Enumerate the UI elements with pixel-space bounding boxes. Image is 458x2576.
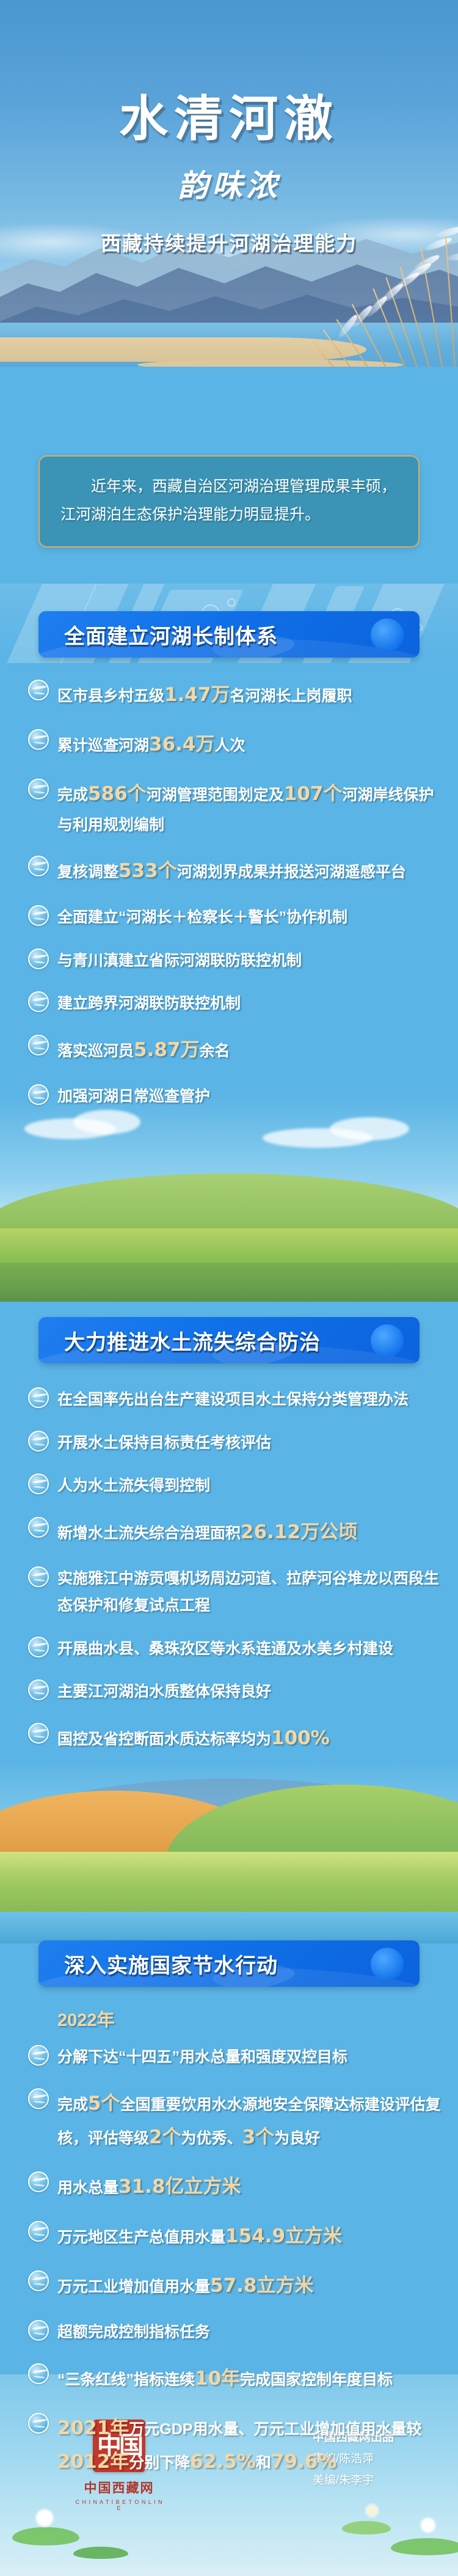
hero-title-group: 水清河澈 韵味浓 西藏持续提升河湖治理能力: [0, 0, 458, 257]
list-item-text: 累计巡查河湖36.4万人次: [57, 728, 245, 761]
highlight-number: 586个: [88, 783, 147, 805]
list-item-text: 新增水土流失综合治理面积26.12万公顷: [57, 1516, 357, 1549]
bullet-list-1: 区市县乡村五级1.47万名河湖长上岗履职累计巡查河湖36.4万人次完成586个河…: [28, 678, 443, 1126]
water-globe-icon: [28, 1387, 49, 1408]
list-item-text-run: 实施雅江中游贡嘎机场周边河道、拉萨河谷堆龙以西段生态保护和修复试点工程: [57, 1570, 439, 1615]
list-item-text: 复核调整533个河湖划界成果并报送河湖遥感平台: [57, 854, 406, 888]
section-header-3: 深入实施国家节水行动: [38, 1940, 420, 1987]
water-globe-icon: [28, 949, 49, 969]
flower-icon: [421, 2519, 435, 2532]
list-item: 完成586个河湖管理范围划定及107个河湖岸线保护与利用规划编制: [28, 777, 443, 838]
list-item-text: 超额完成控制指标任务: [57, 2319, 210, 2346]
scene-water: [0, 1912, 458, 1943]
list-item-text: 落实巡河员5.87万余名: [57, 1033, 230, 1067]
list-item: 主要江河湖泊水质整体保持良好: [28, 1678, 443, 1706]
list-item: 分解下达“十四五”用水总量和强度双控目标: [28, 2044, 443, 2071]
list-item-text-run: “三条红线”指标连续: [57, 2371, 195, 2388]
highlight-number: 79.6%: [271, 2451, 337, 2473]
section-title: 大力推进水土流失综合防治: [64, 1326, 321, 1356]
page-subtitle: 韵味浓: [0, 161, 458, 205]
highlight-number: 2个: [149, 2126, 181, 2148]
list-item: 复核调整533个河湖划界成果并报送河湖遥感平台: [28, 854, 443, 888]
list-item: 新增水土流失综合治理面积26.12万公顷: [28, 1516, 443, 1549]
highlight-number: 31.8亿立方米: [118, 2176, 241, 2198]
header-glow-circle: [371, 1324, 404, 1357]
list-item: 用水总量31.8亿立方米: [28, 2170, 443, 2204]
list-item-text-run: 余名: [200, 1043, 230, 1060]
water-globe-icon: [28, 2270, 49, 2291]
highlight-number: 10年: [195, 2368, 240, 2390]
water-globe-icon: [28, 1566, 49, 1587]
water-globe-icon: [28, 779, 49, 799]
list-item-text: “三条红线”指标连续10年完成国家控制年度目标: [57, 2362, 393, 2396]
list-item: 实施雅江中游贡嘎机场周边河道、拉萨河谷堆龙以西段生态保护和修复试点工程: [28, 1565, 443, 1620]
flower-icon: [37, 2510, 53, 2526]
list-item-text-run: 河湖管理范围划定及: [147, 787, 284, 804]
highlight-number: 5个: [88, 2093, 120, 2115]
water-globe-icon: [28, 1517, 49, 1538]
water-globe-icon: [28, 1679, 49, 1700]
water-globe-icon: [28, 1084, 49, 1105]
water-globe-icon: [28, 680, 49, 700]
section-title: 全面建立河湖长制体系: [64, 620, 278, 650]
list-item-text-run: 加强河湖日常巡查管护: [57, 1088, 210, 1105]
lily-pad: [342, 2521, 391, 2534]
water-globe-icon: [28, 1035, 49, 1055]
list-item-text-run: 为良好: [274, 2130, 320, 2147]
list-item-text: 开展水土保持目标责任考核评估: [57, 1429, 271, 1457]
intro-paragraph: 近年来，西藏自治区河湖治理管理成果丰硕，江河湖泊生态保护治理能力明显提升。: [60, 472, 398, 529]
list-item: 加强河湖日常巡查管护: [28, 1083, 443, 1110]
list-item-text-run: 区市县乡村五级: [57, 688, 164, 705]
hero-banner: 水清河澈 韵味浓 西藏持续提升河湖治理能力: [0, 0, 458, 379]
list-item: 区市县乡村五级1.47万名河湖长上岗履职: [28, 678, 443, 712]
list-item: 人为水土流失得到控制: [28, 1472, 443, 1500]
list-item-text-run: 开展水土保持目标责任考核评估: [57, 1434, 271, 1451]
highlight-number: 5.87万: [134, 1039, 200, 1061]
list-item-text-run: 开展曲水县、桑珠孜区等水系连通及水美乡村建设: [57, 1640, 393, 1657]
list-item-text-run: 人为水土流失得到控制: [57, 1477, 210, 1494]
list-item-text-run: 人次: [215, 737, 245, 754]
lily-pad: [12, 2527, 79, 2545]
list-item: 累计巡查河湖36.4万人次: [28, 728, 443, 761]
year-label: 2022年: [57, 2006, 443, 2031]
list-item-text-run: 完成国家控制年度目标: [240, 2371, 393, 2388]
section-header-2: 大力推进水土流失综合防治: [38, 1317, 420, 1363]
list-item: 开展曲水县、桑珠孜区等水系连通及水美乡村建设: [28, 1635, 443, 1663]
list-item-text-run: 超额完成控制指标任务: [57, 2324, 210, 2341]
list-item-text-run: 完成: [57, 787, 88, 804]
hero-banner-title: 西藏持续提升河湖治理能力: [0, 227, 458, 257]
list-item-text: 人为水土流失得到控制: [57, 1472, 210, 1500]
highlight-number: 154.9立方米: [225, 2225, 342, 2247]
water-globe-icon: [28, 2088, 49, 2109]
list-item: 建立跨界河湖联防联控机制: [28, 990, 443, 1018]
water-globe-icon: [28, 1723, 49, 1744]
list-item-text-run: 河湖划界成果并报送河湖遥感平台: [177, 864, 406, 881]
scenic-illustration-flower: [0, 1760, 458, 1943]
list-item-text-run: 复核调整: [57, 864, 118, 881]
water-globe-icon: [28, 856, 49, 876]
water-globe-icon: [28, 1431, 49, 1451]
highlight-number: 62.5%: [190, 2451, 256, 2473]
highlight-number: 26.12万公顷: [241, 1521, 357, 1543]
list-item-text: 加强河湖日常巡查管护: [57, 1083, 210, 1110]
list-item: 全面建立“河湖长＋检察长＋警长”协作机制: [28, 904, 443, 931]
list-item-text: 与青川滇建立省际河湖联防联控机制: [57, 947, 302, 975]
water-globe-icon: [28, 2413, 49, 2434]
header-glow-circle: [371, 618, 404, 651]
list-item-text: 国控及省控断面水质达标率均为100%: [57, 1722, 330, 1755]
list-item: 完成5个全国重要饮用水水源地安全保障达标建设评估复核，评估等级2个为优秀、3个为…: [28, 2087, 443, 2154]
list-item-text-run: 在全国率先出台生产建设项目水土保持分类管理办法: [57, 1391, 409, 1408]
list-item-text: 万元工业增加值用水量57.8立方米: [57, 2269, 314, 2303]
list-item-text-run: 名河湖长上岗履职: [230, 688, 352, 705]
list-item-text-run: 万元地区生产总值用水量: [57, 2229, 225, 2246]
highlight-number: 57.8立方米: [210, 2275, 314, 2297]
highlight-number: 100%: [271, 1727, 330, 1749]
water-globe-icon: [28, 2171, 49, 2192]
list-item: 在全国率先出台生产建设项目水土保持分类管理办法: [28, 1386, 443, 1414]
lily-pad: [73, 2547, 128, 2559]
list-item-text-run: 国控及省控断面水质达标率均为: [57, 1731, 271, 1748]
list-item: 国控及省控断面水质达标率均为100%: [28, 1722, 443, 1755]
section-title: 深入实施国家节水行动: [64, 1949, 278, 1979]
highlight-number: 107个: [284, 783, 343, 805]
list-item: 万元地区生产总值用水量154.9立方米: [28, 2220, 443, 2253]
list-item-text-run: 新增水土流失综合治理面积: [57, 1525, 241, 1542]
list-item-text-run: 用水总量: [57, 2179, 118, 2196]
bullet-list-2: 在全国率先出台生产建设项目水土保持分类管理办法开展水土保持目标责任考核评估人为水…: [28, 1386, 443, 1771]
water-globe-icon: [28, 905, 49, 926]
list-item: 万元工业增加值用水量57.8立方米: [28, 2269, 443, 2303]
bubble-icon: [227, 598, 236, 607]
list-item-text-run: 完成: [57, 2096, 88, 2113]
list-item-text-run: 与青川滇建立省际河湖联防联控机制: [57, 952, 302, 969]
lily-pad: [391, 2538, 458, 2555]
flower-icon: [366, 2505, 377, 2516]
header-glow-circle: [371, 1948, 404, 1981]
highlight-number: 533个: [118, 860, 177, 882]
list-item-text-run: 和: [256, 2454, 271, 2471]
list-item-text: 主要江河湖泊水质整体保持良好: [57, 1678, 271, 1706]
water-globe-icon: [28, 991, 49, 1012]
list-item: 2021年万元GDP用水量、万元工业增加值用水量较2012年分别下降62.5%和…: [28, 2412, 443, 2479]
water-globe-icon: [28, 2320, 49, 2341]
list-item-text: 区市县乡村五级1.47万名河湖长上岗履职: [57, 678, 352, 712]
water-globe-icon: [28, 2363, 49, 2384]
list-item: 超额完成控制指标任务: [28, 2319, 443, 2346]
list-item: “三条红线”指标连续10年完成国家控制年度目标: [28, 2362, 443, 2396]
list-item-text: 用水总量31.8亿立方米: [57, 2170, 241, 2204]
section-header-1: 全面建立河湖长制体系: [38, 611, 420, 658]
water-globe-icon: [28, 729, 49, 750]
list-item-text: 开展曲水县、桑珠孜区等水系连通及水美乡村建设: [57, 1635, 393, 1663]
highlight-number: 36.4万: [149, 733, 215, 755]
water-globe-icon: [28, 2045, 49, 2066]
list-item-text: 在全国率先出台生产建设项目水土保持分类管理办法: [57, 1386, 409, 1414]
list-item-text: 建立跨界河湖联防联控机制: [57, 990, 241, 1018]
list-item: 开展水土保持目标责任考核评估: [28, 1429, 443, 1457]
list-item-text-run: 为优秀、: [181, 2130, 242, 2147]
page-title: 水清河澈: [0, 79, 458, 150]
list-item: 落实巡河员5.87万余名: [28, 1033, 443, 1067]
list-item-text: 分解下达“十四五”用水总量和强度双控目标: [57, 2044, 347, 2071]
list-item-text: 完成586个河湖管理范围划定及107个河湖岸线保护与利用规划编制: [57, 777, 443, 838]
list-item-text: 2021年万元GDP用水量、万元工业增加值用水量较2012年分别下降62.5%和…: [57, 2412, 443, 2479]
list-item-text-run: 全面建立“河湖长＋检察长＋警长”协作机制: [57, 909, 347, 926]
water-globe-icon: [28, 1637, 49, 1657]
highlight-number: 1.47万: [164, 684, 230, 706]
grass-field-dark: [0, 1263, 458, 1302]
list-item-text: 完成5个全国重要饮用水水源地安全保障达标建设评估复核，评估等级2个为优秀、3个为…: [57, 2087, 443, 2154]
list-item-text: 全面建立“河湖长＋检察长＋警长”协作机制: [57, 904, 347, 931]
water-globe-icon: [28, 2221, 49, 2242]
list-item-text-run: 主要江河湖泊水质整体保持良好: [57, 1683, 271, 1700]
list-item-text-run: 万元工业增加值用水量: [57, 2278, 210, 2295]
list-item-text: 实施雅江中游贡嘎机场周边河道、拉萨河谷堆龙以西段生态保护和修复试点工程: [57, 1565, 443, 1620]
list-item-text-run: 万元GDP用水量、万元工业增加值用水量较: [129, 2421, 421, 2438]
highlight-number: 2012年: [57, 2451, 129, 2473]
list-item-text-run: 分别下降: [129, 2454, 190, 2471]
list-item-text-run: 建立跨界河湖联防联控机制: [57, 995, 241, 1012]
list-item-text-run: 分解下达“十四五”用水总量和强度双控目标: [57, 2049, 347, 2066]
bullet-list-3: 2022年分解下达“十四五”用水总量和强度双控目标完成5个全国重要饮用水水源地安…: [28, 2006, 443, 2495]
list-item-text-run: 落实巡河员: [57, 1043, 134, 1060]
intro-card: 近年来，西藏自治区河湖治理管理成果丰硕，江河湖泊生态保护治理能力明显提升。: [38, 455, 420, 548]
brand-name-en: C H I N A T I B E T O N L I N E: [73, 2499, 165, 2511]
list-item-text-run: 累计巡查河湖: [57, 737, 149, 754]
list-item: 与青川滇建立省际河湖联防联控机制: [28, 947, 443, 975]
list-item-text: 万元地区生产总值用水量154.9立方米: [57, 2220, 342, 2253]
highlight-number: 3个: [242, 2126, 275, 2148]
highlight-number: 2021年: [57, 2417, 129, 2439]
water-globe-icon: [28, 1473, 49, 1494]
